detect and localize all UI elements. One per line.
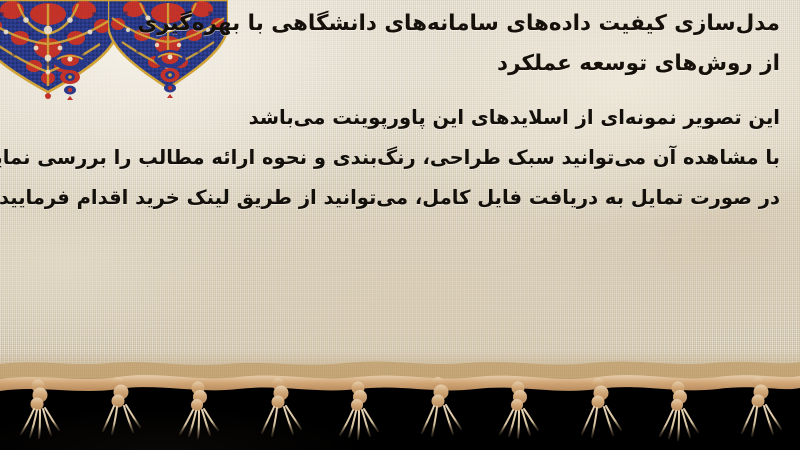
slide-body: این تصویر نمونه‌ای از اسلایدهای این پاور… (20, 98, 780, 218)
fringe-icon (0, 368, 800, 450)
presentation-slide: مدل‌سازی کیفیت داده‌های سامانه‌های دانشگ… (0, 0, 800, 450)
carpet-fringe-tassels (0, 368, 800, 450)
slide-text-layer: مدل‌سازی کیفیت داده‌های سامانه‌های دانشگ… (0, 0, 800, 378)
slide-title-line-2: از روش‌های توسعه عملکرد (120, 44, 780, 84)
slide-body-line-2: با مشاهده آن می‌توانید سبک طراحی، رنگ‌بن… (20, 138, 780, 178)
slide-body-line-3: در صورت تمایل به دریافت فایل کامل، می‌تو… (20, 178, 780, 218)
slide-title: مدل‌سازی کیفیت داده‌های سامانه‌های دانشگ… (120, 4, 780, 84)
slide-body-line-1: این تصویر نمونه‌ای از اسلایدهای این پاور… (20, 98, 780, 138)
slide-title-line-1: مدل‌سازی کیفیت داده‌های سامانه‌های دانشگ… (120, 4, 780, 44)
